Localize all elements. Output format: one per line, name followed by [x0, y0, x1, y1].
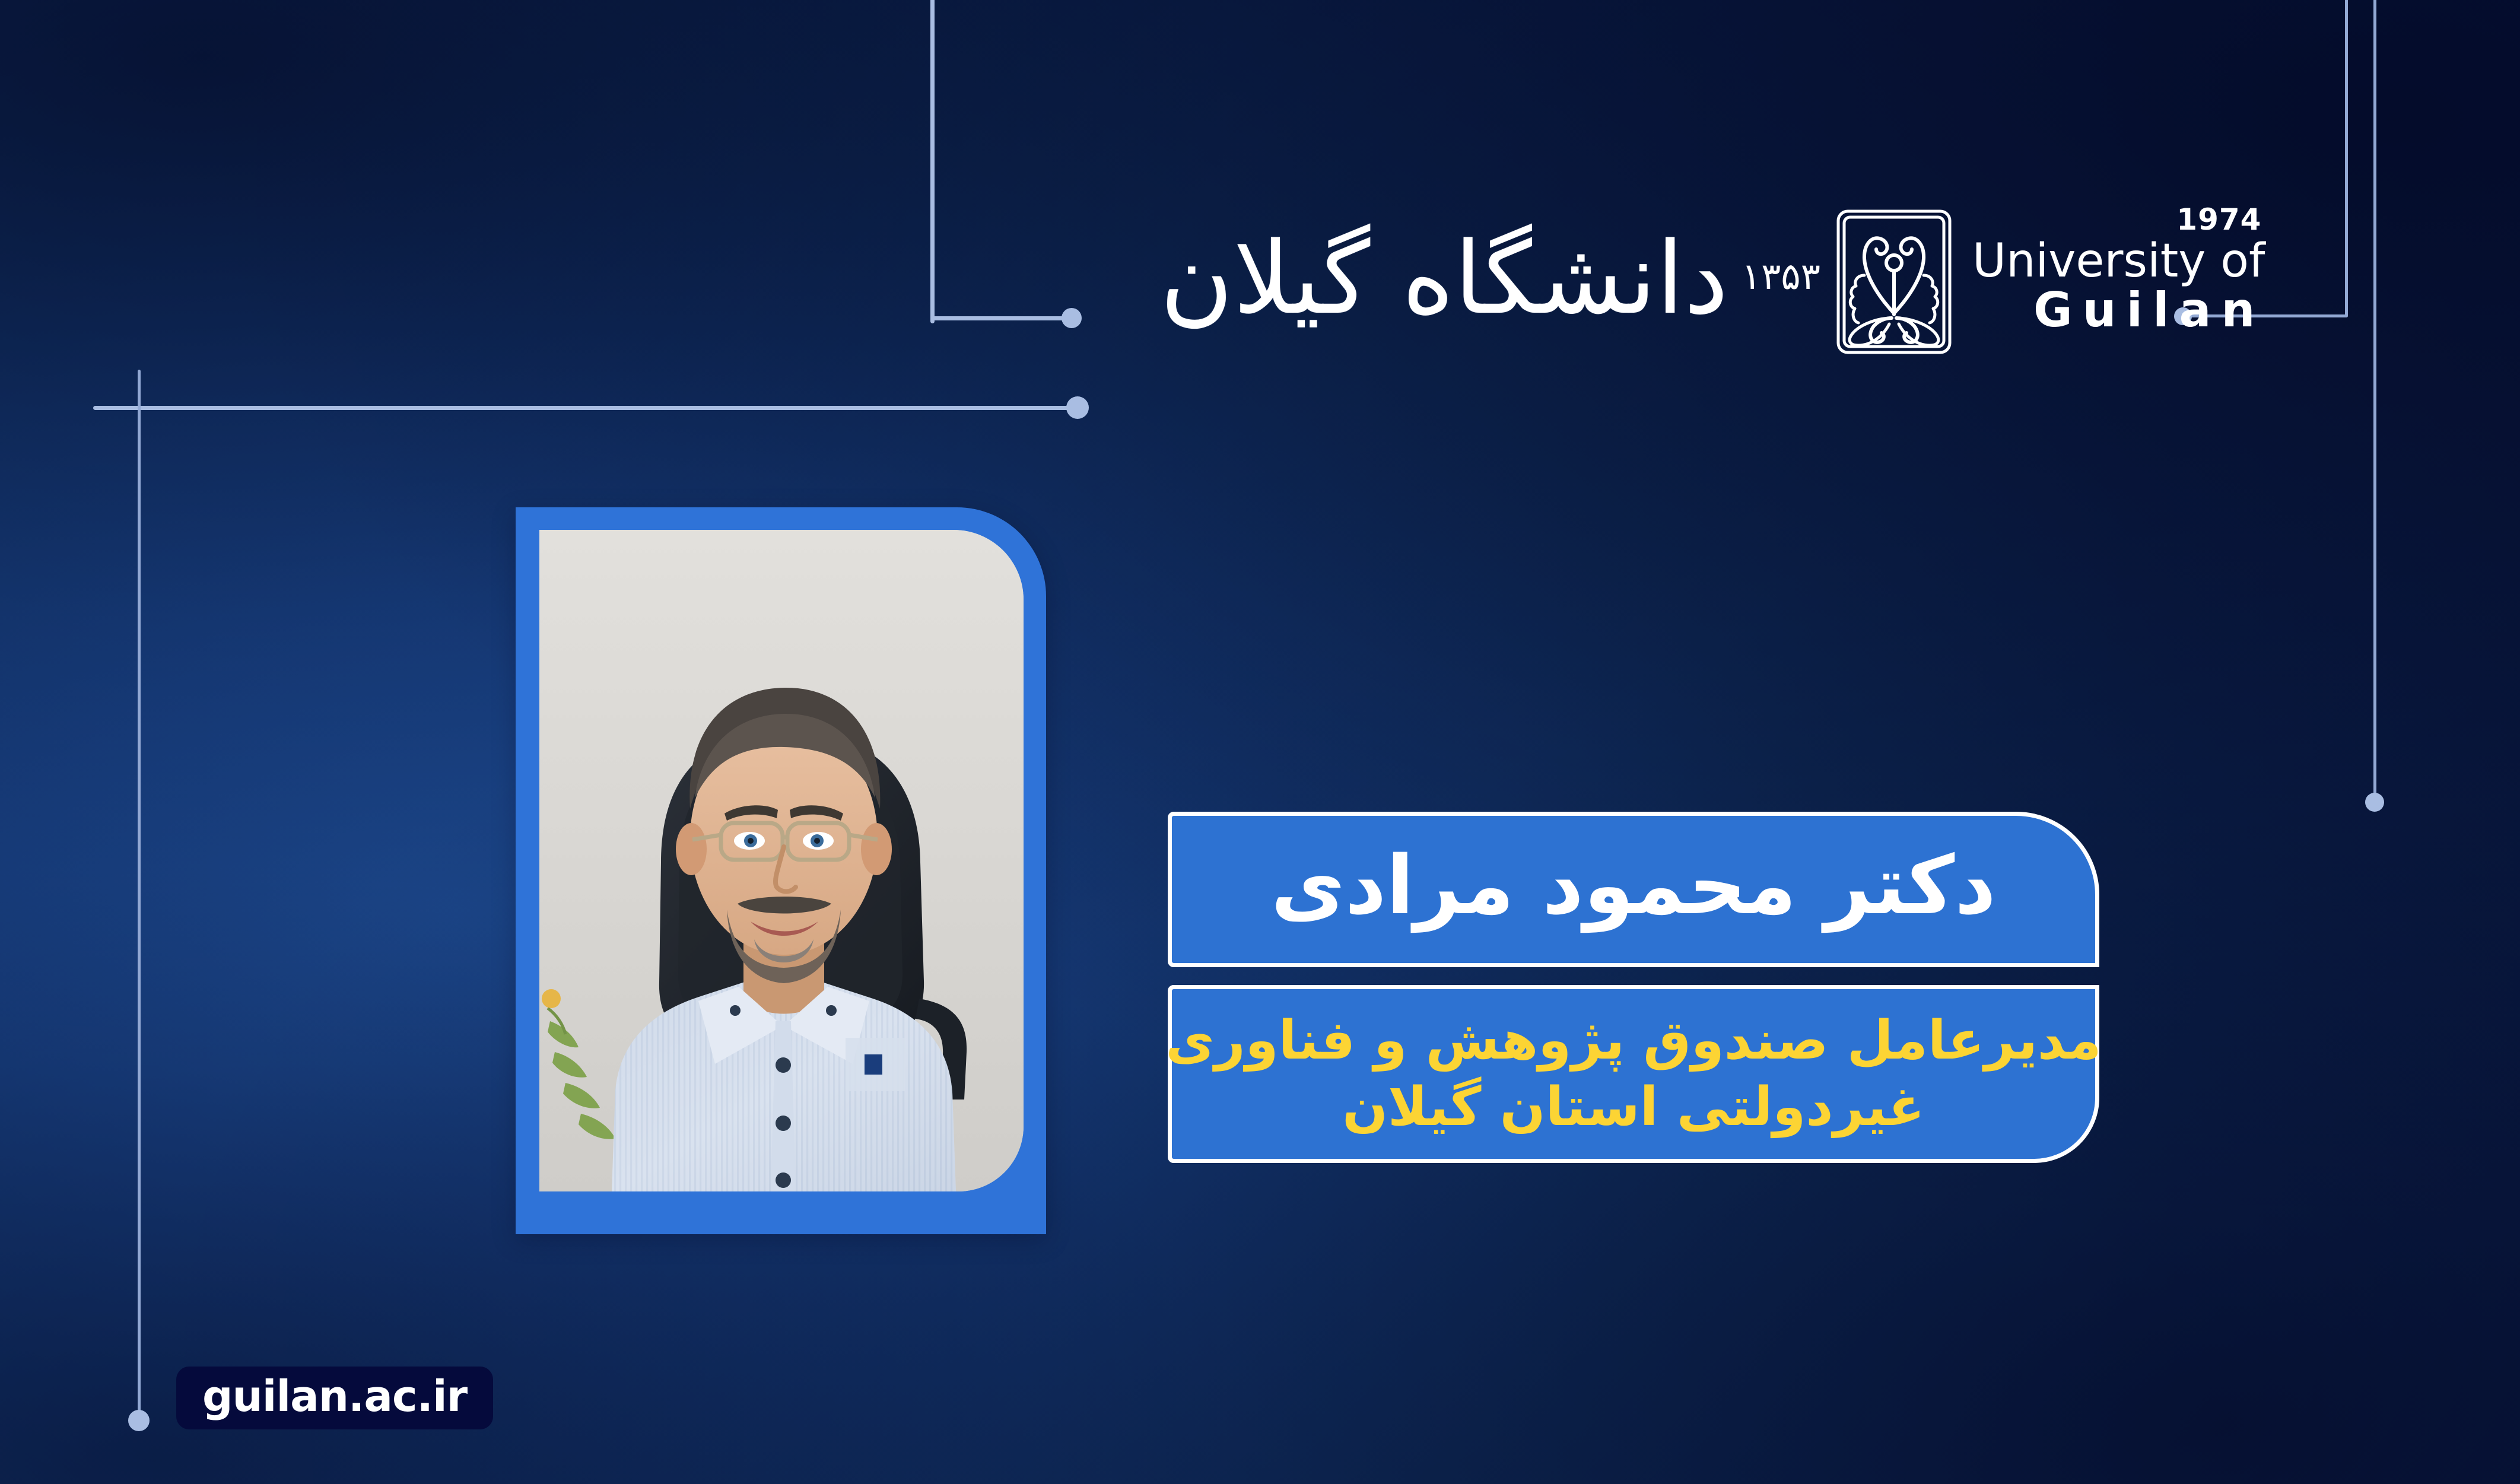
deco-dot-bottom-left [128, 1410, 150, 1431]
logo-english-line1: University of [1972, 238, 2265, 285]
announcement-card: دانشگاه گیلان ۱۳۵۳ [0, 0, 2520, 1484]
person-title-line-2: غیردولتی استان گیلان [1342, 1074, 1925, 1140]
logo-english-year: 1974 [2176, 202, 2261, 237]
person-name: دکتر محمود مرادی [1271, 846, 1996, 926]
logo-persian-year: ۱۳۵۳ [1742, 255, 1820, 298]
portrait-frame [516, 507, 1046, 1234]
guilan-butterfly-emblem-icon [1835, 208, 1953, 356]
logo-persian-name: دانشگاه گیلان [1160, 228, 1728, 328]
portrait-photo [539, 530, 1024, 1191]
person-title-banner: مدیرعامل صندوق پژوهش و فناوری غیردولتی ا… [1168, 985, 2099, 1163]
deco-dot-right-lower [2365, 793, 2384, 812]
deco-dot-upper-right [1066, 396, 1089, 419]
person-title-line-1: مدیرعامل صندوق پژوهش و فناوری [1165, 1008, 2101, 1074]
logo-english-line2: Guilan [1972, 285, 2265, 335]
person-name-banner: دکتر محمود مرادی [1168, 812, 2099, 967]
deco-dot-top-center [1062, 308, 1082, 328]
website-badge[interactable]: guilan.ac.ir [176, 1367, 493, 1429]
website-url: guilan.ac.ir [202, 1375, 467, 1418]
logo-english-block: 1974 University of Guilan [1972, 228, 2265, 335]
university-logo: دانشگاه گیلان ۱۳۵۳ [1160, 196, 2086, 368]
